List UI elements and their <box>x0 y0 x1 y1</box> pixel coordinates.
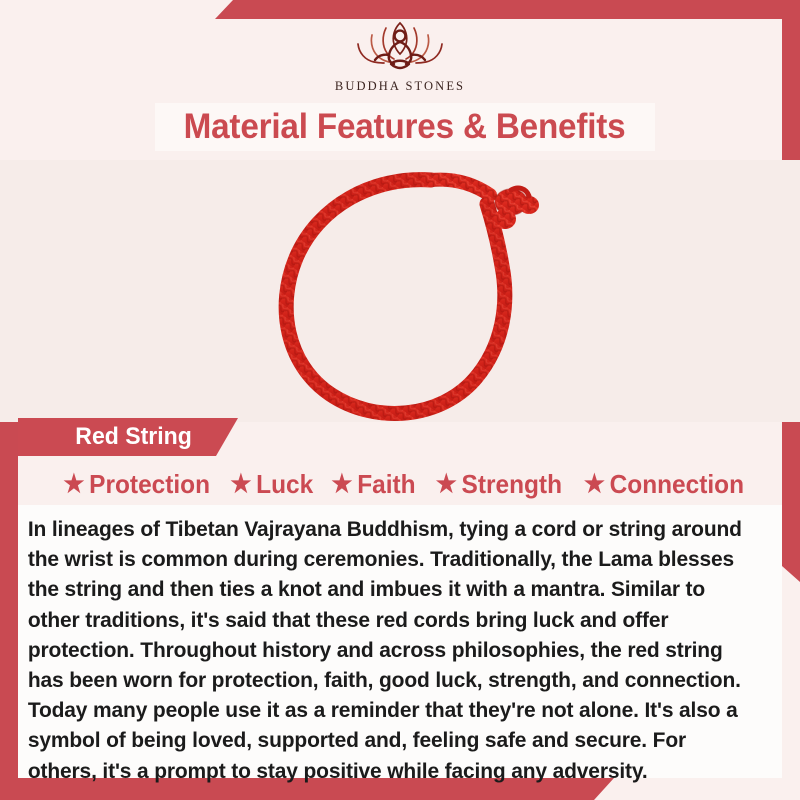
lotus-meditation-icon <box>334 14 466 76</box>
material-banner-label: Red String <box>22 423 192 451</box>
product-image <box>0 160 800 422</box>
feature-item-connection: ★ Connection <box>576 469 745 500</box>
infographic-page: BUDDHA STONES Material Features & Benefi… <box>0 0 800 800</box>
star-icon: ★ <box>436 472 457 497</box>
feature-item-luck: ★ Luck <box>222 469 313 500</box>
feature-label: Strength <box>461 469 561 500</box>
star-icon: ★ <box>584 472 605 497</box>
feature-label: Faith <box>358 469 416 500</box>
feature-label: Protection <box>89 469 210 500</box>
feature-item-protection: ★ Protection <box>55 469 210 500</box>
feature-list: ★ Protection ★ Luck ★ Faith ★ Strength ★… <box>18 463 782 505</box>
feature-item-strength: ★ Strength <box>427 469 562 500</box>
feature-label: Connection <box>610 469 744 500</box>
material-banner: Red String <box>18 418 238 456</box>
description-paragraph: In lineages of Tibetan Vajrayana Buddhis… <box>18 505 771 786</box>
brand-logo: BUDDHA STONES <box>0 14 800 94</box>
star-icon: ★ <box>64 472 85 497</box>
brand-name: BUDDHA STONES <box>335 79 465 94</box>
feature-label: Luck <box>256 469 313 500</box>
star-icon: ★ <box>332 472 353 497</box>
page-title: Material Features & Benefits <box>184 107 626 147</box>
header: BUDDHA STONES Material Features & Benefi… <box>0 0 800 160</box>
page-title-band: Material Features & Benefits <box>155 103 655 151</box>
description-card: In lineages of Tibetan Vajrayana Buddhis… <box>18 505 782 778</box>
feature-item-faith: ★ Faith <box>323 469 416 500</box>
star-icon: ★ <box>231 472 252 497</box>
braided-red-cord-bracelet-icon <box>268 162 574 422</box>
